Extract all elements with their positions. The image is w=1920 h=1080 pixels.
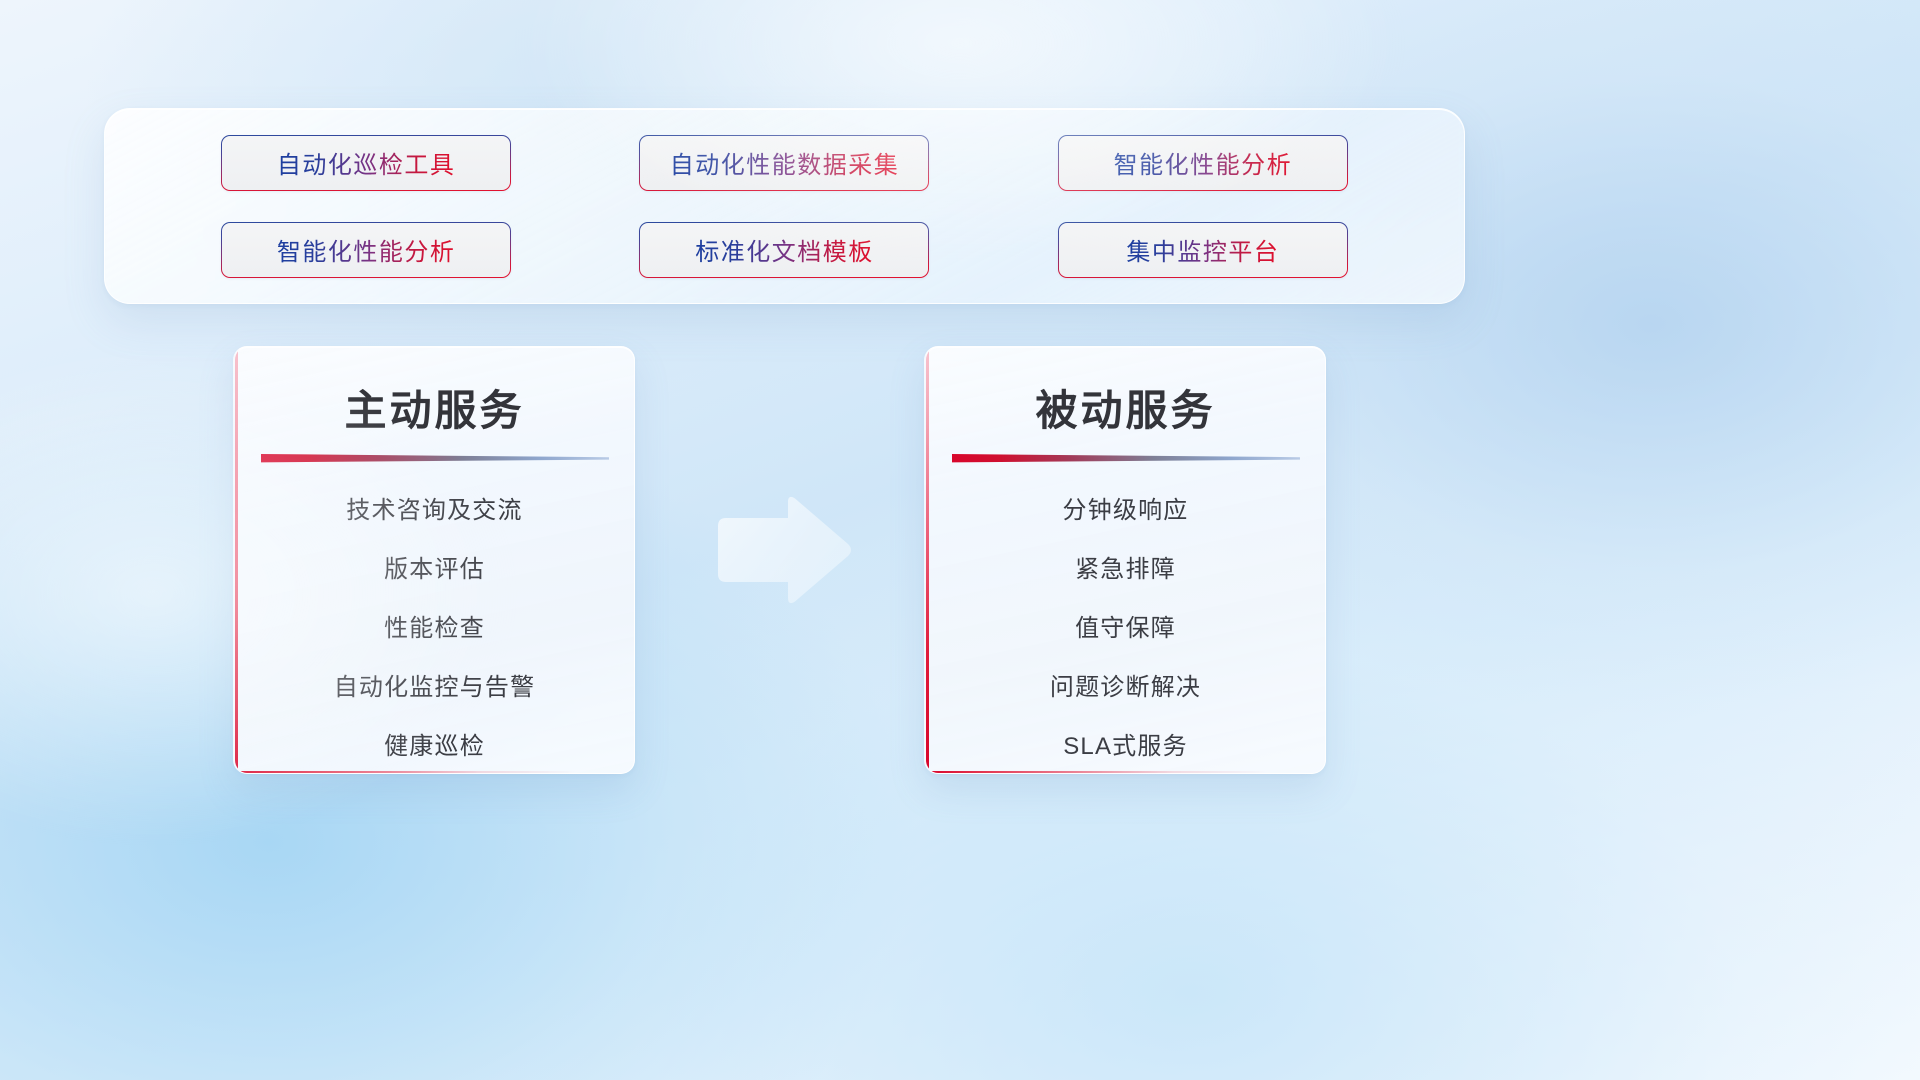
capability-pill[interactable]: 标准化文档模板	[639, 222, 929, 278]
service-list-item[interactable]: 值守保障	[952, 617, 1299, 641]
service-list: 分钟级响应 紧急排障 值守保障 问题诊断解决 SLA式服务	[952, 499, 1299, 759]
capability-pill[interactable]: 自动化性能数据采集	[639, 135, 929, 191]
capability-pill[interactable]: 智能化性能分析	[1058, 135, 1348, 191]
capability-pill-label: 集中监控平台	[1126, 232, 1279, 267]
capability-pill-label: 标准化文档模板	[695, 232, 874, 267]
capability-pill-label: 自动化巡检工具	[277, 145, 456, 180]
service-list-item[interactable]: 问题诊断解决	[952, 676, 1299, 700]
service-card-proactive: 主动服务 技术咨询及交流 版本评估 性能检查	[233, 346, 635, 774]
service-list-item[interactable]: 紧急排障	[952, 558, 1299, 582]
flow-arrow-right-icon	[714, 494, 854, 606]
capability-pill-label: 智能化性能分析	[277, 232, 456, 267]
card-title: 被动服务	[952, 389, 1299, 433]
service-list-item[interactable]: 版本评估	[261, 558, 608, 582]
capability-pill[interactable]: 集中监控平台	[1058, 222, 1348, 278]
card-divider	[952, 453, 1300, 465]
service-list-item[interactable]: 技术咨询及交流	[261, 499, 608, 523]
service-list-item[interactable]: SLA式服务	[952, 735, 1299, 759]
card-title: 主动服务	[261, 389, 608, 433]
slide-canvas: 自动化巡检工具 自动化性能数据采集 智能化性能分析 智能化性能分析 标准化文档模…	[0, 0, 1920, 1080]
service-list-item[interactable]: 分钟级响应	[952, 499, 1299, 523]
service-list-item[interactable]: 性能检查	[261, 617, 608, 641]
card-divider	[261, 453, 609, 465]
capability-pill[interactable]: 智能化性能分析	[221, 222, 511, 278]
capability-pill[interactable]: 自动化巡检工具	[221, 135, 511, 191]
capability-pill-label: 智能化性能分析	[1114, 145, 1293, 180]
service-card-reactive: 被动服务 分钟级响应 紧急排障 值守保障	[924, 346, 1326, 774]
service-list-item[interactable]: 自动化监控与告警	[261, 676, 608, 700]
service-list-item[interactable]: 健康巡检	[261, 735, 608, 759]
capability-panel: 自动化巡检工具 自动化性能数据采集 智能化性能分析 智能化性能分析 标准化文档模…	[104, 108, 1465, 304]
service-list: 技术咨询及交流 版本评估 性能检查 自动化监控与告警 健康巡检	[261, 499, 608, 759]
capability-pill-label: 自动化性能数据采集	[670, 145, 900, 180]
